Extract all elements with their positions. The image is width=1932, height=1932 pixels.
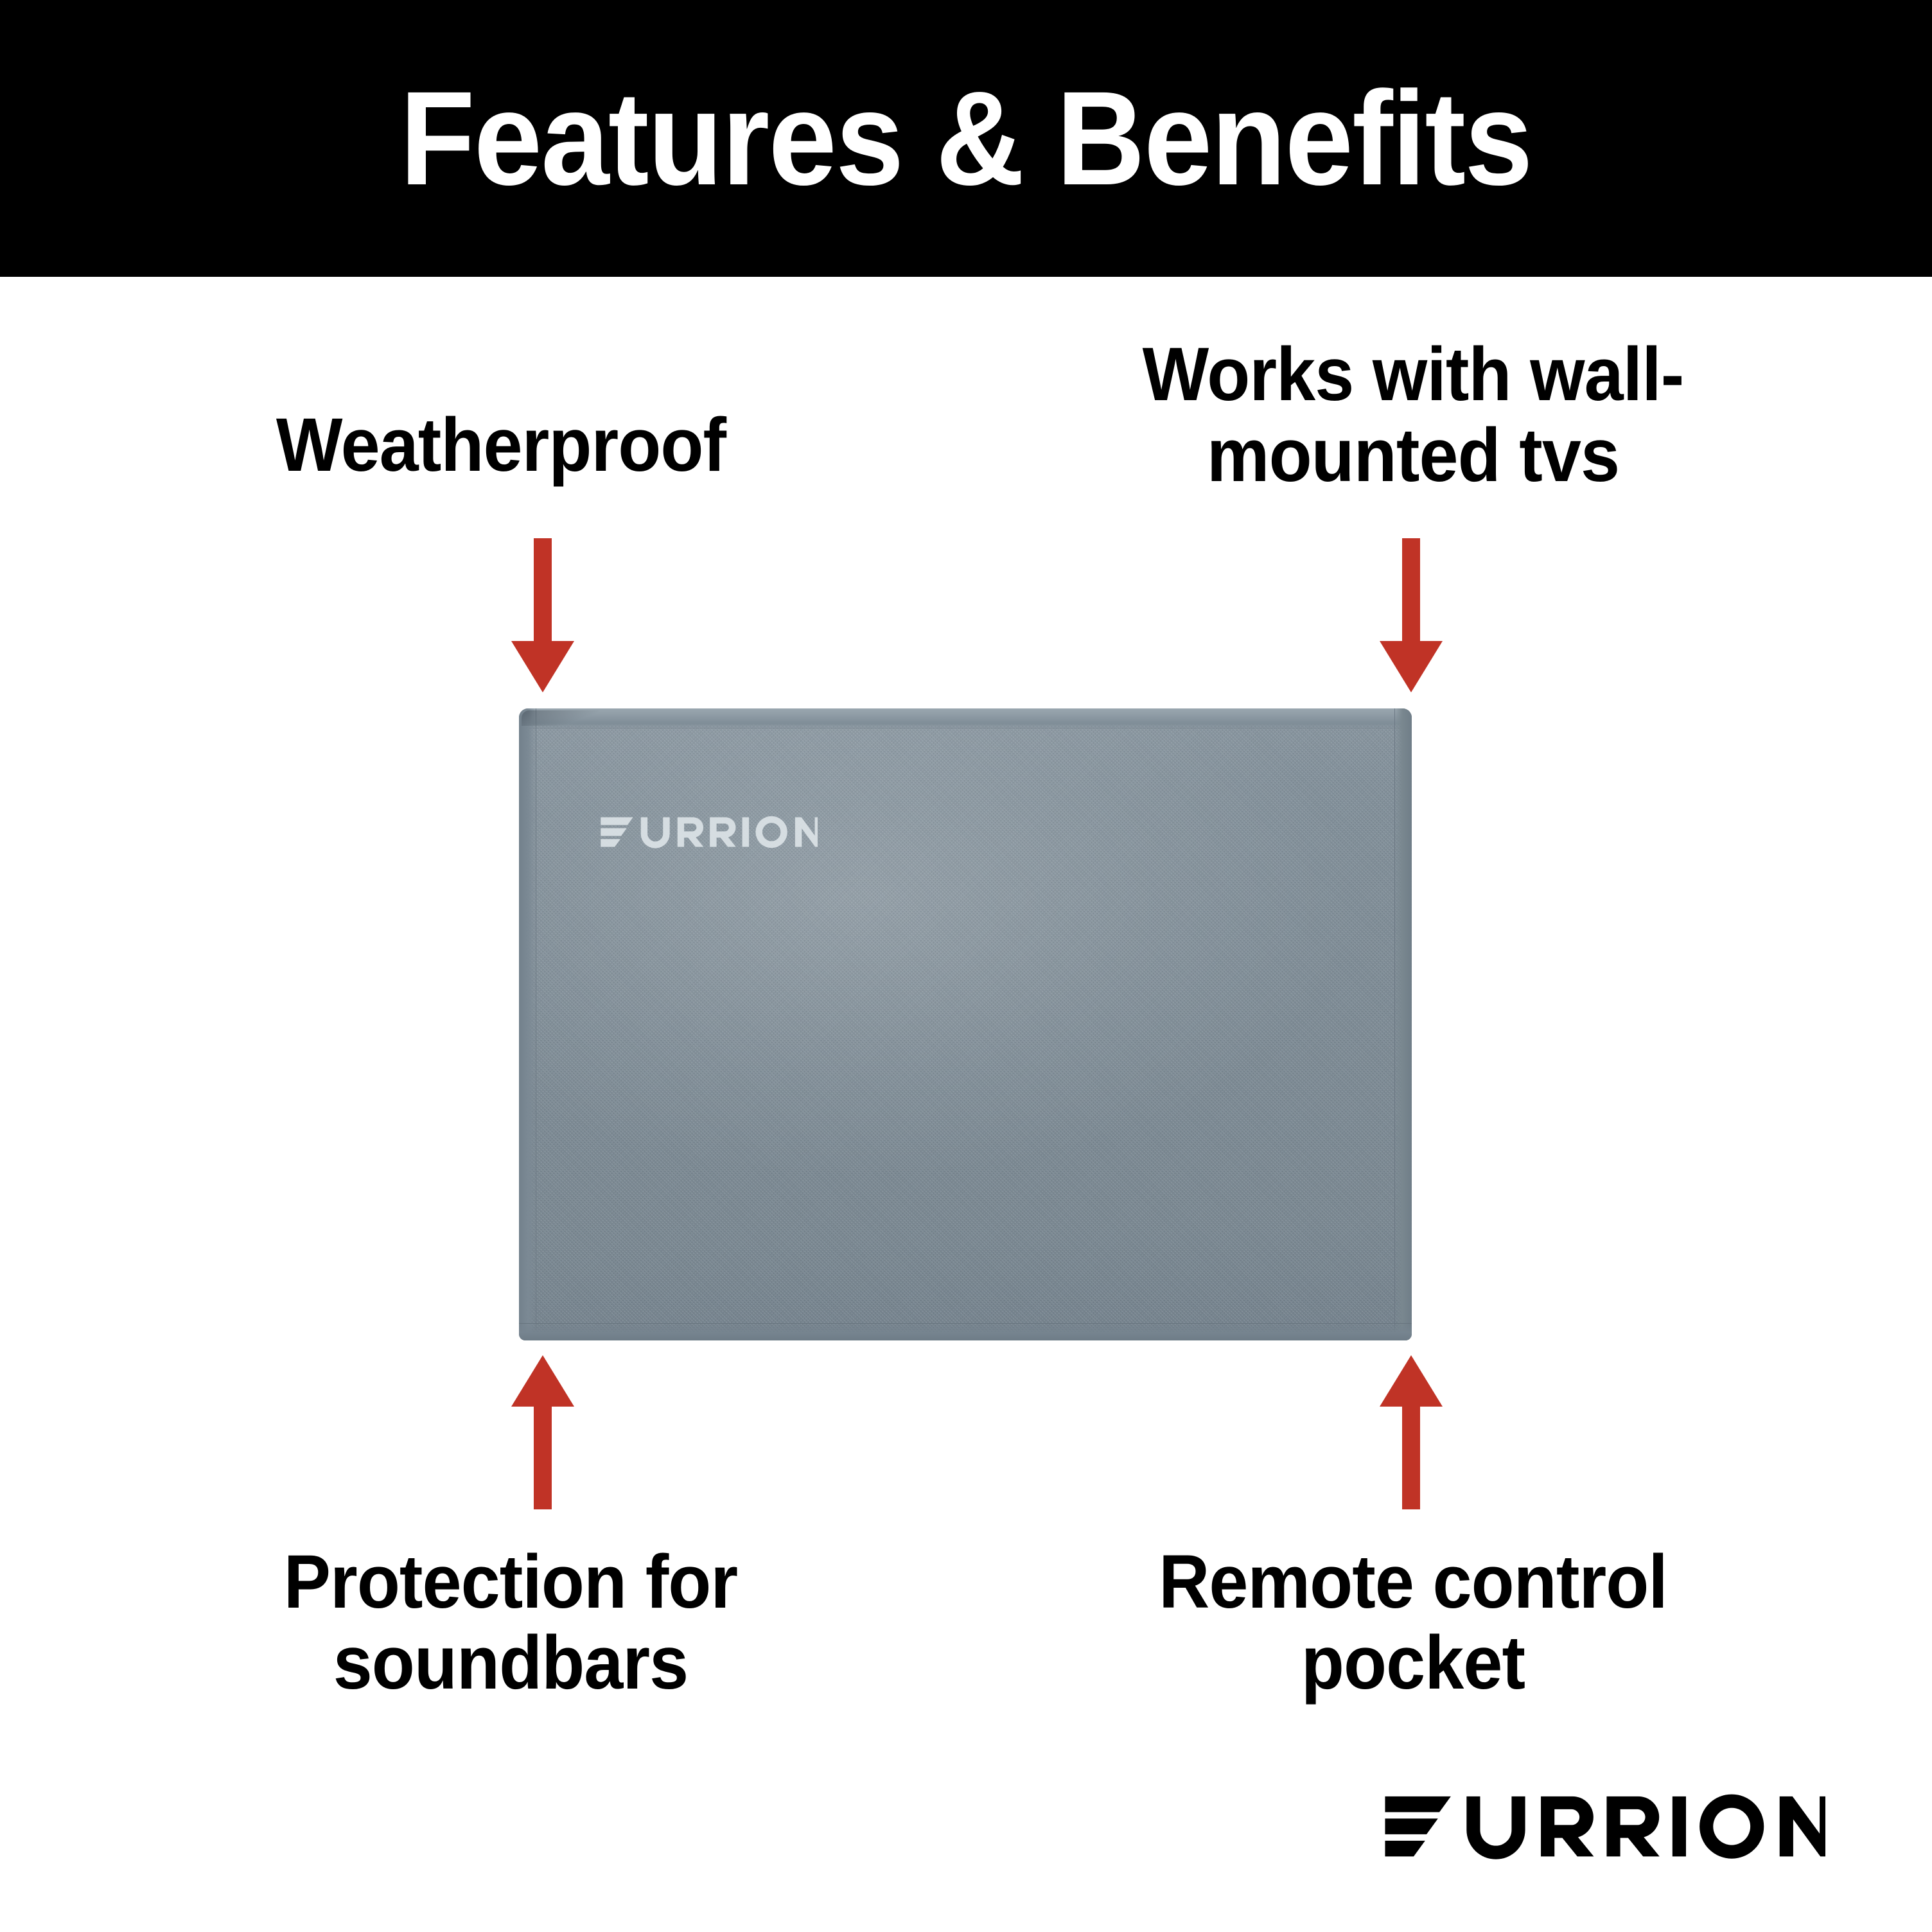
product-image-tv-cover [519, 708, 1412, 1340]
callout-label-weatherproof: Weatherproof [215, 405, 788, 486]
arrow-up-icon-soundbars [507, 1355, 578, 1509]
product-fabric-texture [519, 708, 1412, 1340]
callout-label-soundbars: Protection for soundbars [203, 1541, 818, 1704]
product-corner-crease [522, 710, 599, 726]
arrow-up-icon-remote-pocket [1376, 1355, 1446, 1509]
product-body [519, 708, 1412, 1340]
callout-label-wall-mounted: Works with wall- mounted tvs [1078, 334, 1748, 496]
product-bottom-hem [519, 1323, 1412, 1340]
furrion-logo-footer [1382, 1791, 1825, 1862]
header-band: Features & Benefits [0, 0, 1932, 277]
infographic-page: Features & Benefits Weatherproof Works w… [0, 0, 1932, 1932]
product-left-edge [519, 708, 536, 1340]
product-top-hem [519, 708, 1412, 728]
product-fabric-weave [519, 708, 1412, 1340]
product-right-edge [1394, 708, 1412, 1340]
callout-label-remote-pocket: Remote control pocket [1078, 1541, 1748, 1704]
furrion-logo-on-product [599, 814, 818, 850]
arrow-down-icon-wall-mounted [1376, 538, 1446, 692]
page-title: Features & Benefits [400, 72, 1532, 206]
arrow-down-icon-weatherproof [507, 538, 578, 692]
